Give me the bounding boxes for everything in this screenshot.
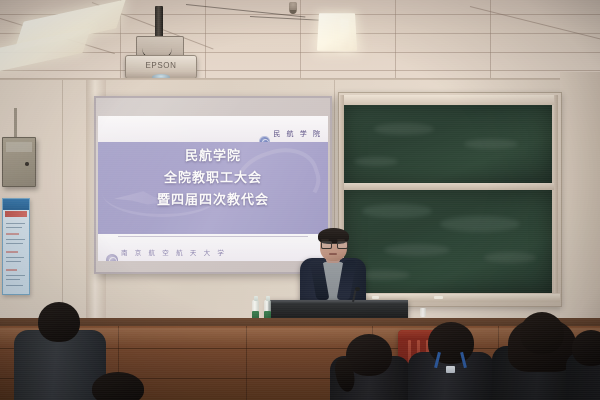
speaker-eyeglasses-icon (321, 241, 346, 247)
audience-head (572, 330, 600, 366)
electrical-conduit (14, 108, 17, 138)
wall-mounted-electrical-cabinet (2, 137, 36, 187)
projector-mount-rod (155, 6, 163, 40)
name-badge (446, 366, 455, 373)
university-emblem-icon (106, 254, 118, 261)
audience-head (428, 322, 474, 364)
poster-title-band (5, 211, 27, 217)
slide-title-line-1: 民航学院 (185, 148, 241, 167)
blackboard-top-rail (341, 95, 557, 105)
audience-member-partial-head (92, 372, 144, 400)
blue-notice-poster (2, 198, 30, 295)
ceiling-panel-light-right (317, 13, 357, 51)
lecture-hall-photo: EPSON (0, 0, 600, 400)
speaker-mouth (329, 253, 337, 255)
presentation-slide: 民 航 学 院 College of Civil Aviation 民航学院 全… (98, 116, 328, 261)
slide-title-line-2: 全院教职工大会 (164, 170, 262, 189)
slide-footer-rule (118, 236, 308, 237)
wall-pilaster-right (560, 72, 600, 330)
slide-body: 民航学院 全院教职工大会 暨四届四次教代会 (98, 142, 328, 234)
poster-header-band (3, 199, 29, 210)
ceiling-panel-light-right-edge (340, 19, 349, 49)
paper-cup[interactable] (420, 308, 426, 317)
slide-header-band: 民 航 学 院 College of Civil Aviation (98, 116, 328, 142)
college-logo-cn-text: 民 航 学 院 (273, 130, 322, 138)
fire-sprinkler-icon (289, 2, 297, 14)
university-logo-footer: 南 京 航 空 航 天 大 学 Nanjing University of Ae… (106, 242, 226, 261)
microphone-head-icon (355, 287, 360, 291)
university-logo-cn-text: 南 京 航 空 航 天 大 学 (121, 249, 226, 257)
projection-screen: 民 航 学 院 College of Civil Aviation 民航学院 全… (96, 98, 330, 272)
audience-head (520, 312, 564, 354)
projector-brand-label: EPSON (126, 61, 196, 70)
slide-footer-band: 南 京 航 空 航 天 大 学 Nanjing University of Ae… (98, 234, 328, 261)
audience-head (38, 302, 80, 342)
slide-title-line-3: 暨四届四次教代会 (157, 192, 269, 211)
blackboard-upper-panel[interactable] (344, 105, 552, 183)
blackboard-middle-rail (341, 183, 557, 190)
ceiling (0, 0, 600, 86)
lectern-top-edge (268, 300, 408, 303)
slide-title-block: 民航学院 全院教职工大会 暨四届四次教代会 (98, 148, 328, 211)
blackboard-lower-panel[interactable] (344, 190, 552, 293)
